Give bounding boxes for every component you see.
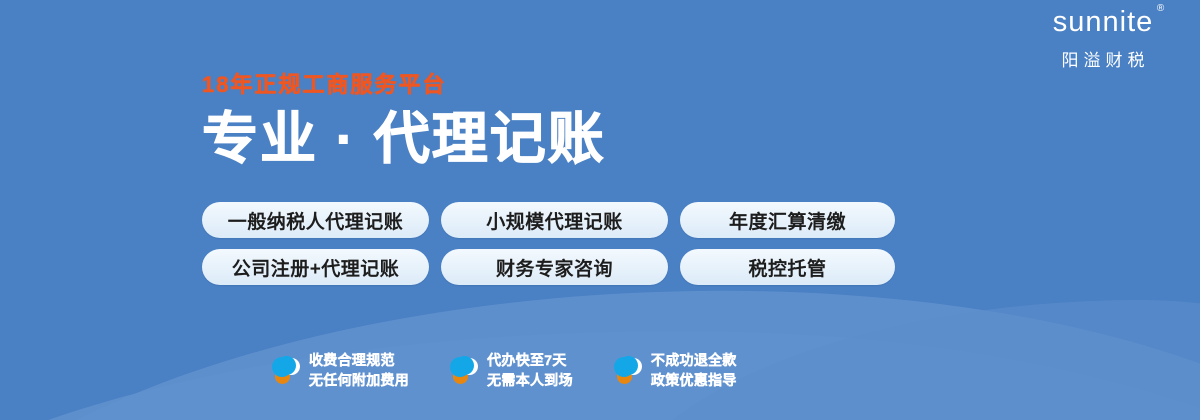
feature-line-1: 不成功退全款 — [651, 350, 737, 370]
feature-item-speed: 代办快至7天 无需本人到场 — [450, 350, 573, 391]
brand-logo[interactable]: sunnite ® 阳溢财税 — [1018, 8, 1188, 71]
promo-banner: sunnite ® 阳溢财税 18年正规工商服务平台 专业 · 代理记账 一般纳… — [0, 0, 1200, 420]
dot-crescent-icon — [450, 355, 476, 385]
brand-wordmark: sunnite ® — [1053, 8, 1154, 37]
feature-text-guarantee: 不成功退全款 政策优惠指导 — [651, 350, 737, 391]
service-pill-company-registration[interactable]: 公司注册+代理记账 — [202, 249, 429, 285]
feature-text-pricing: 收费合理规范 无任何附加费用 — [309, 350, 409, 391]
feature-line-2: 无任何附加费用 — [309, 370, 409, 390]
service-pill-finance-consulting[interactable]: 财务专家咨询 — [441, 249, 668, 285]
dot-crescent-icon — [272, 355, 298, 385]
feature-line-1: 收费合理规范 — [309, 350, 409, 370]
feature-item-pricing: 收费合理规范 无任何附加费用 — [272, 350, 409, 391]
service-pill-grid: 一般纳税人代理记账 小规模代理记账 年度汇算清缴 公司注册+代理记账 财务专家咨… — [202, 202, 895, 285]
page-title: 专业 · 代理记账 — [202, 110, 606, 169]
feature-item-guarantee: 不成功退全款 政策优惠指导 — [614, 350, 737, 391]
feature-line-1: 代办快至7天 — [487, 350, 573, 370]
service-pill-annual-settlement[interactable]: 年度汇算清缴 — [680, 202, 895, 238]
service-pill-general-taxpayer[interactable]: 一般纳税人代理记账 — [202, 202, 429, 238]
registered-trademark-icon: ® — [1157, 4, 1165, 14]
brand-wordmark-text: sunnite — [1053, 6, 1154, 38]
feature-text-speed: 代办快至7天 无需本人到场 — [487, 350, 573, 391]
brand-chinese-name: 阳溢财税 — [1018, 46, 1188, 71]
dot-crescent-icon — [614, 355, 640, 385]
feature-line-2: 政策优惠指导 — [651, 370, 737, 390]
headline-eyebrow: 18年正规工商服务平台 — [202, 74, 606, 96]
feature-line-2: 无需本人到场 — [487, 370, 573, 390]
feature-strip: 收费合理规范 无任何附加费用 代办快至7天 无需本人到场 — [272, 350, 737, 391]
service-pill-tax-control-hosting[interactable]: 税控托管 — [680, 249, 895, 285]
headline-block: 18年正规工商服务平台 专业 · 代理记账 — [202, 74, 606, 169]
service-pill-small-scale[interactable]: 小规模代理记账 — [441, 202, 668, 238]
background-wave-upper — [0, 262, 1200, 420]
